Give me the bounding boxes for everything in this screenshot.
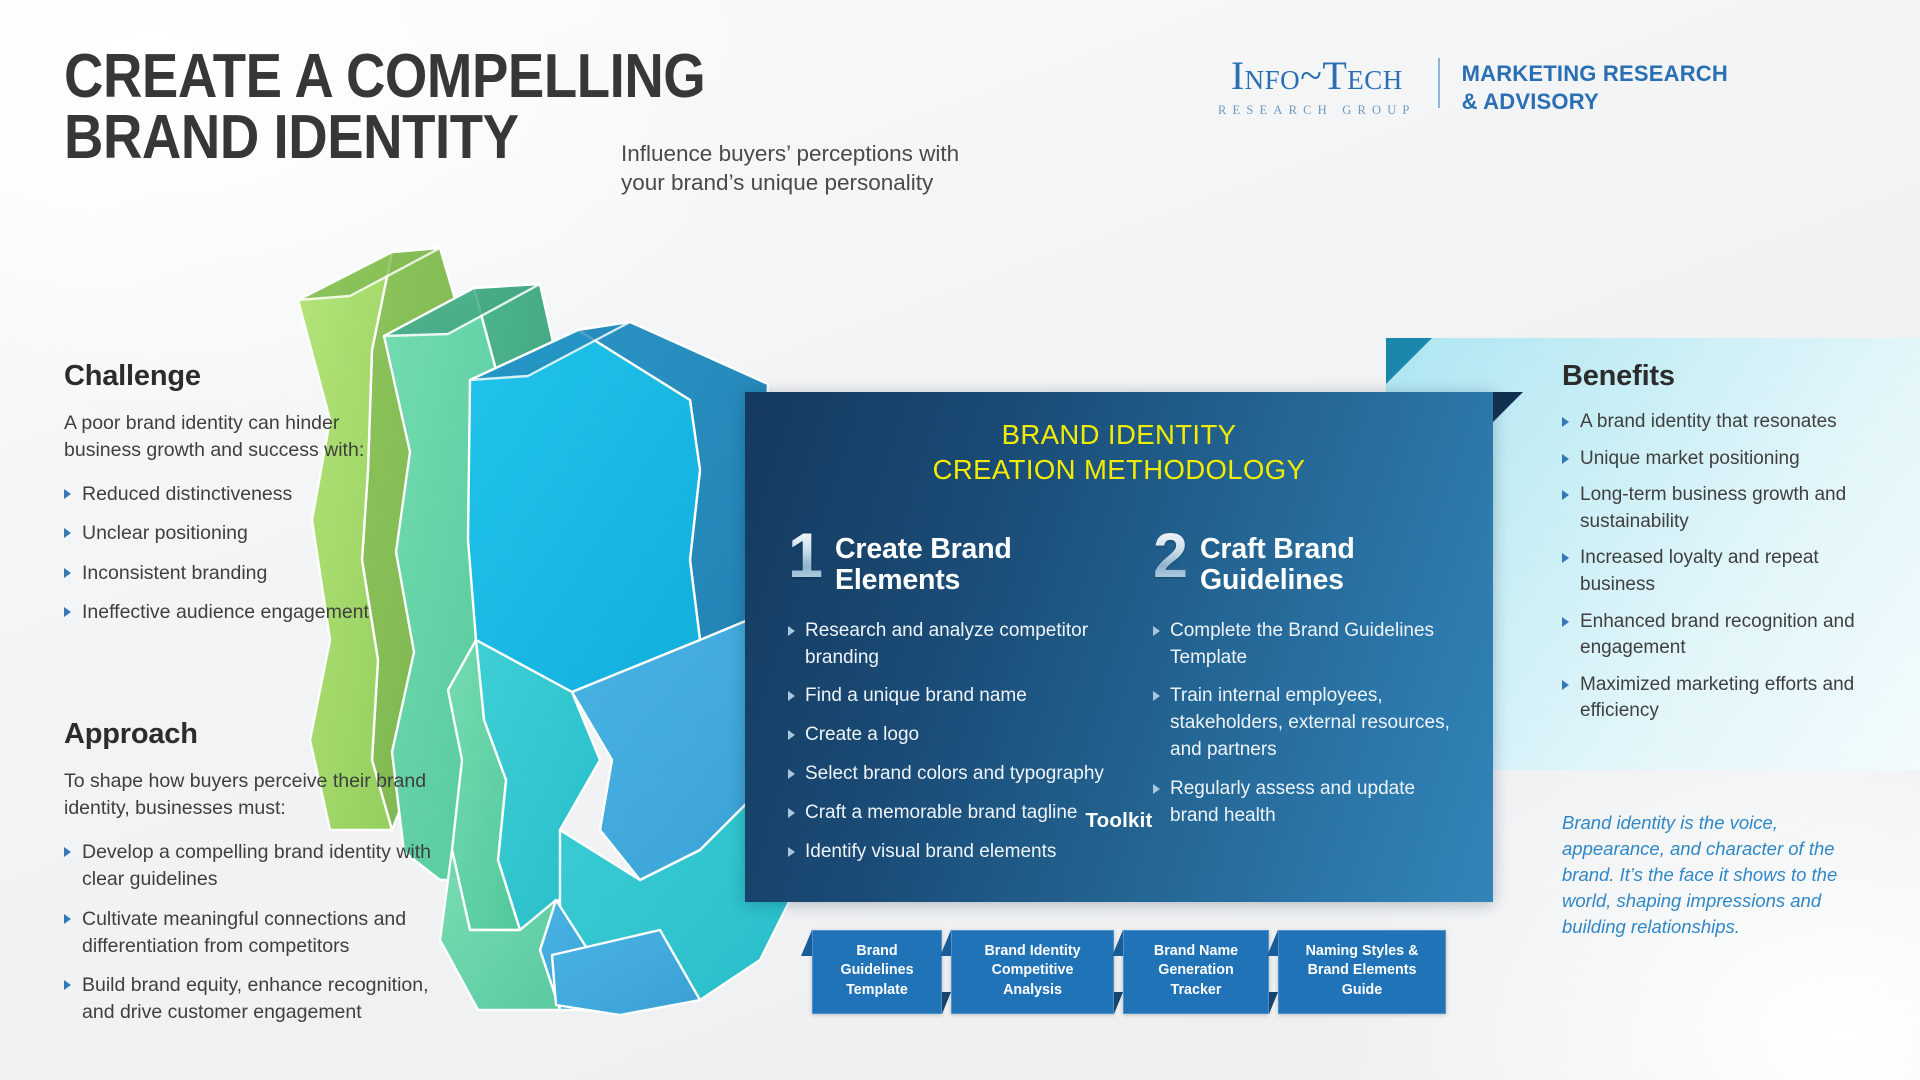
methodology-step-2: 2 Craft Brand Guidelines Complete the Br… <box>1153 532 1453 842</box>
step-1-number: 1 <box>788 532 823 581</box>
challenge-bullet-list: Reduced distinctiveness Unclear position… <box>64 481 404 626</box>
page-title: CREATE A COMPELLING BRAND IDENTITY <box>64 46 705 169</box>
logo-wordmark-nfo: NFO <box>1245 65 1301 95</box>
list-item: Select brand colors and typography <box>788 761 1118 788</box>
toolkit-tab-shape <box>1112 930 1123 956</box>
toolkit-item-brand-identity-competitive-analysis[interactable]: Brand Identity Competitive Analysis <box>951 930 1114 1014</box>
step-2-title: Craft Brand Guidelines <box>1200 532 1355 596</box>
logo-wordmark-block: INFO~TECH RESEARCH GROUP <box>1218 56 1438 118</box>
step-2-number: 2 <box>1153 532 1188 581</box>
toolkit-item-label[interactable]: Brand Name Generation Tracker <box>1123 930 1269 1014</box>
toolkit-item-brand-guidelines-template[interactable]: Brand Guidelines Template <box>812 930 942 1014</box>
toolkit-shadow-shape <box>1269 992 1278 1014</box>
list-item: Inconsistent branding <box>64 560 404 587</box>
toolkit-tab-shape <box>801 930 812 956</box>
benefits-bullet-list: A brand identity that resonates Unique m… <box>1562 409 1892 725</box>
center-panel-corner-fold <box>1493 392 1523 422</box>
list-item: Increased loyalty and repeat business <box>1562 545 1892 598</box>
toolkit-row: Brand Guidelines Template Brand Identity… <box>812 930 1446 1014</box>
approach-heading: Approach <box>64 718 436 751</box>
step-2-header: 2 Craft Brand Guidelines <box>1153 532 1453 596</box>
challenge-heading: Challenge <box>64 360 404 393</box>
info-tech-logo: INFO~TECH RESEARCH GROUP MARKETING RESEA… <box>1218 56 1728 118</box>
list-item: Build brand equity, enhance recognition,… <box>64 972 436 1027</box>
benefits-heading: Benefits <box>1562 360 1892 393</box>
toolkit-item-label[interactable]: Brand Identity Competitive Analysis <box>951 930 1114 1014</box>
list-item: Develop a compelling brand identity with… <box>64 839 436 894</box>
toolkit-item-label[interactable]: Naming Styles & Brand Elements Guide <box>1278 930 1446 1014</box>
logo-tagline: RESEARCH GROUP <box>1218 103 1416 118</box>
toolkit-shadow-shape <box>1114 992 1123 1014</box>
challenge-lead: A poor brand identity can hinder busines… <box>64 410 404 465</box>
step-2-bullet-list: Complete the Brand Guidelines Template T… <box>1153 618 1453 831</box>
step-1-header: 1 Create Brand Elements <box>788 532 1118 596</box>
list-item: Maximized marketing efforts and efficien… <box>1562 672 1892 725</box>
list-item: Unique market positioning <box>1562 446 1892 473</box>
list-item: Reduced distinctiveness <box>64 481 404 508</box>
list-item: Find a unique brand name <box>788 683 1118 710</box>
list-item: Unclear positioning <box>64 520 404 547</box>
list-item: Complete the Brand Guidelines Template <box>1153 618 1453 672</box>
benefits-section: Benefits A brand identity that resonates… <box>1562 360 1892 735</box>
page-subtitle: Influence buyers’ perceptions with your … <box>621 140 991 198</box>
approach-bullet-list: Develop a compelling brand identity with… <box>64 839 436 1027</box>
logo-wordmark-t: ~T <box>1300 53 1347 98</box>
toolkit-item-naming-styles-brand-elements-guide[interactable]: Naming Styles & Brand Elements Guide <box>1278 930 1446 1014</box>
methodology-title: BRAND IDENTITY CREATION METHODOLOGY <box>745 418 1493 488</box>
toolkit-item-brand-name-generation-tracker[interactable]: Brand Name Generation Tracker <box>1123 930 1269 1014</box>
logo-business-line: MARKETING RESEARCH & ADVISORY <box>1440 56 1728 116</box>
toolkit-item-label[interactable]: Brand Guidelines Template <box>812 930 942 1014</box>
list-item: A brand identity that resonates <box>1562 409 1892 436</box>
toolkit-tab-shape <box>940 930 951 956</box>
list-item: Cultivate meaningful connections and dif… <box>64 906 436 961</box>
brand-identity-definition-note: Brand identity is the voice, appearance,… <box>1562 810 1882 940</box>
list-item: Identify visual brand elements <box>788 839 1118 866</box>
list-item: Train internal employees, stakeholders, … <box>1153 683 1453 764</box>
list-item: Research and analyze competitor branding <box>788 618 1118 672</box>
toolkit-shadow-shape <box>942 992 951 1014</box>
methodology-panel: BRAND IDENTITY CREATION METHODOLOGY 1 Cr… <box>745 392 1493 902</box>
list-item: Enhanced brand recognition and engagemen… <box>1562 609 1892 662</box>
list-item: Ineffective audience engagement <box>64 599 404 626</box>
challenge-section: Challenge A poor brand identity can hind… <box>64 360 404 638</box>
toolkit-label: Toolkit <box>745 809 1493 833</box>
logo-wordmark: INFO~TECH <box>1218 56 1416 96</box>
logo-wordmark-i: I <box>1231 53 1245 98</box>
toolkit-tab-shape <box>1267 930 1278 956</box>
approach-section: Approach To shape how buyers perceive th… <box>64 718 436 1039</box>
approach-lead: To shape how buyers perceive their brand… <box>64 768 436 823</box>
list-item: Long-term business growth and sustainabi… <box>1562 482 1892 535</box>
list-item: Create a logo <box>788 722 1118 749</box>
logo-wordmark-ech: ECH <box>1347 65 1403 95</box>
step-1-title: Create Brand Elements <box>835 532 1012 596</box>
